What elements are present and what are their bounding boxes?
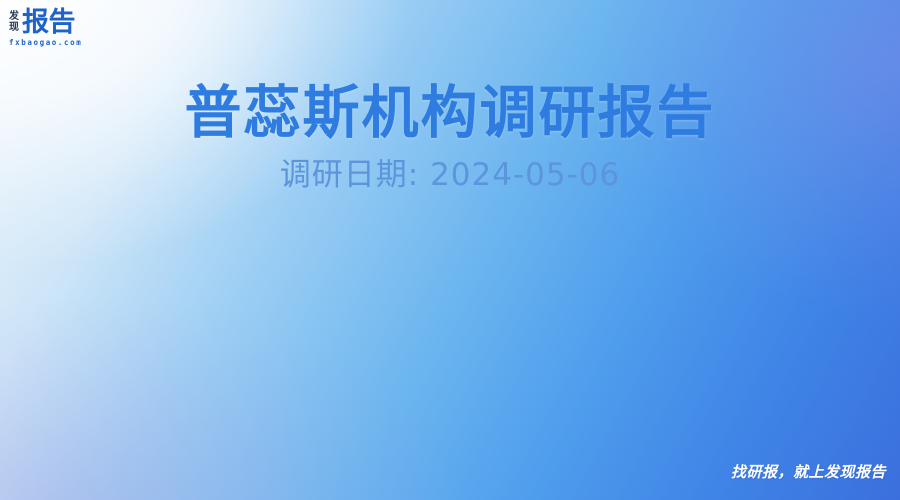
logo-mark-char-top: 发: [9, 12, 19, 23]
logo-mark-discover: 发 现: [9, 12, 22, 33]
report-title: 普蕊斯机构调研报告: [0, 80, 900, 147]
cover-title-block: 普蕊斯机构调研报告: [0, 80, 900, 147]
logo-main: 发 现 报告: [9, 9, 75, 36]
logo-mark-char-bottom: 现: [9, 23, 19, 34]
logo-wordmark: 报告: [22, 9, 75, 36]
logo-url: fxbaogao.com: [9, 39, 82, 47]
report-cover-slide: 发 现 报告 fxbaogao.com 普蕊斯机构调研报告 调研日期: 2024…: [0, 0, 900, 500]
site-logo[interactable]: 发 现 报告 fxbaogao.com: [9, 9, 82, 47]
low-poly-background: [0, 0, 900, 500]
report-subtitle: 调研日期: 2024-05-06: [0, 157, 900, 194]
footer-slogan: 找研报，就上发现报告: [731, 465, 886, 480]
